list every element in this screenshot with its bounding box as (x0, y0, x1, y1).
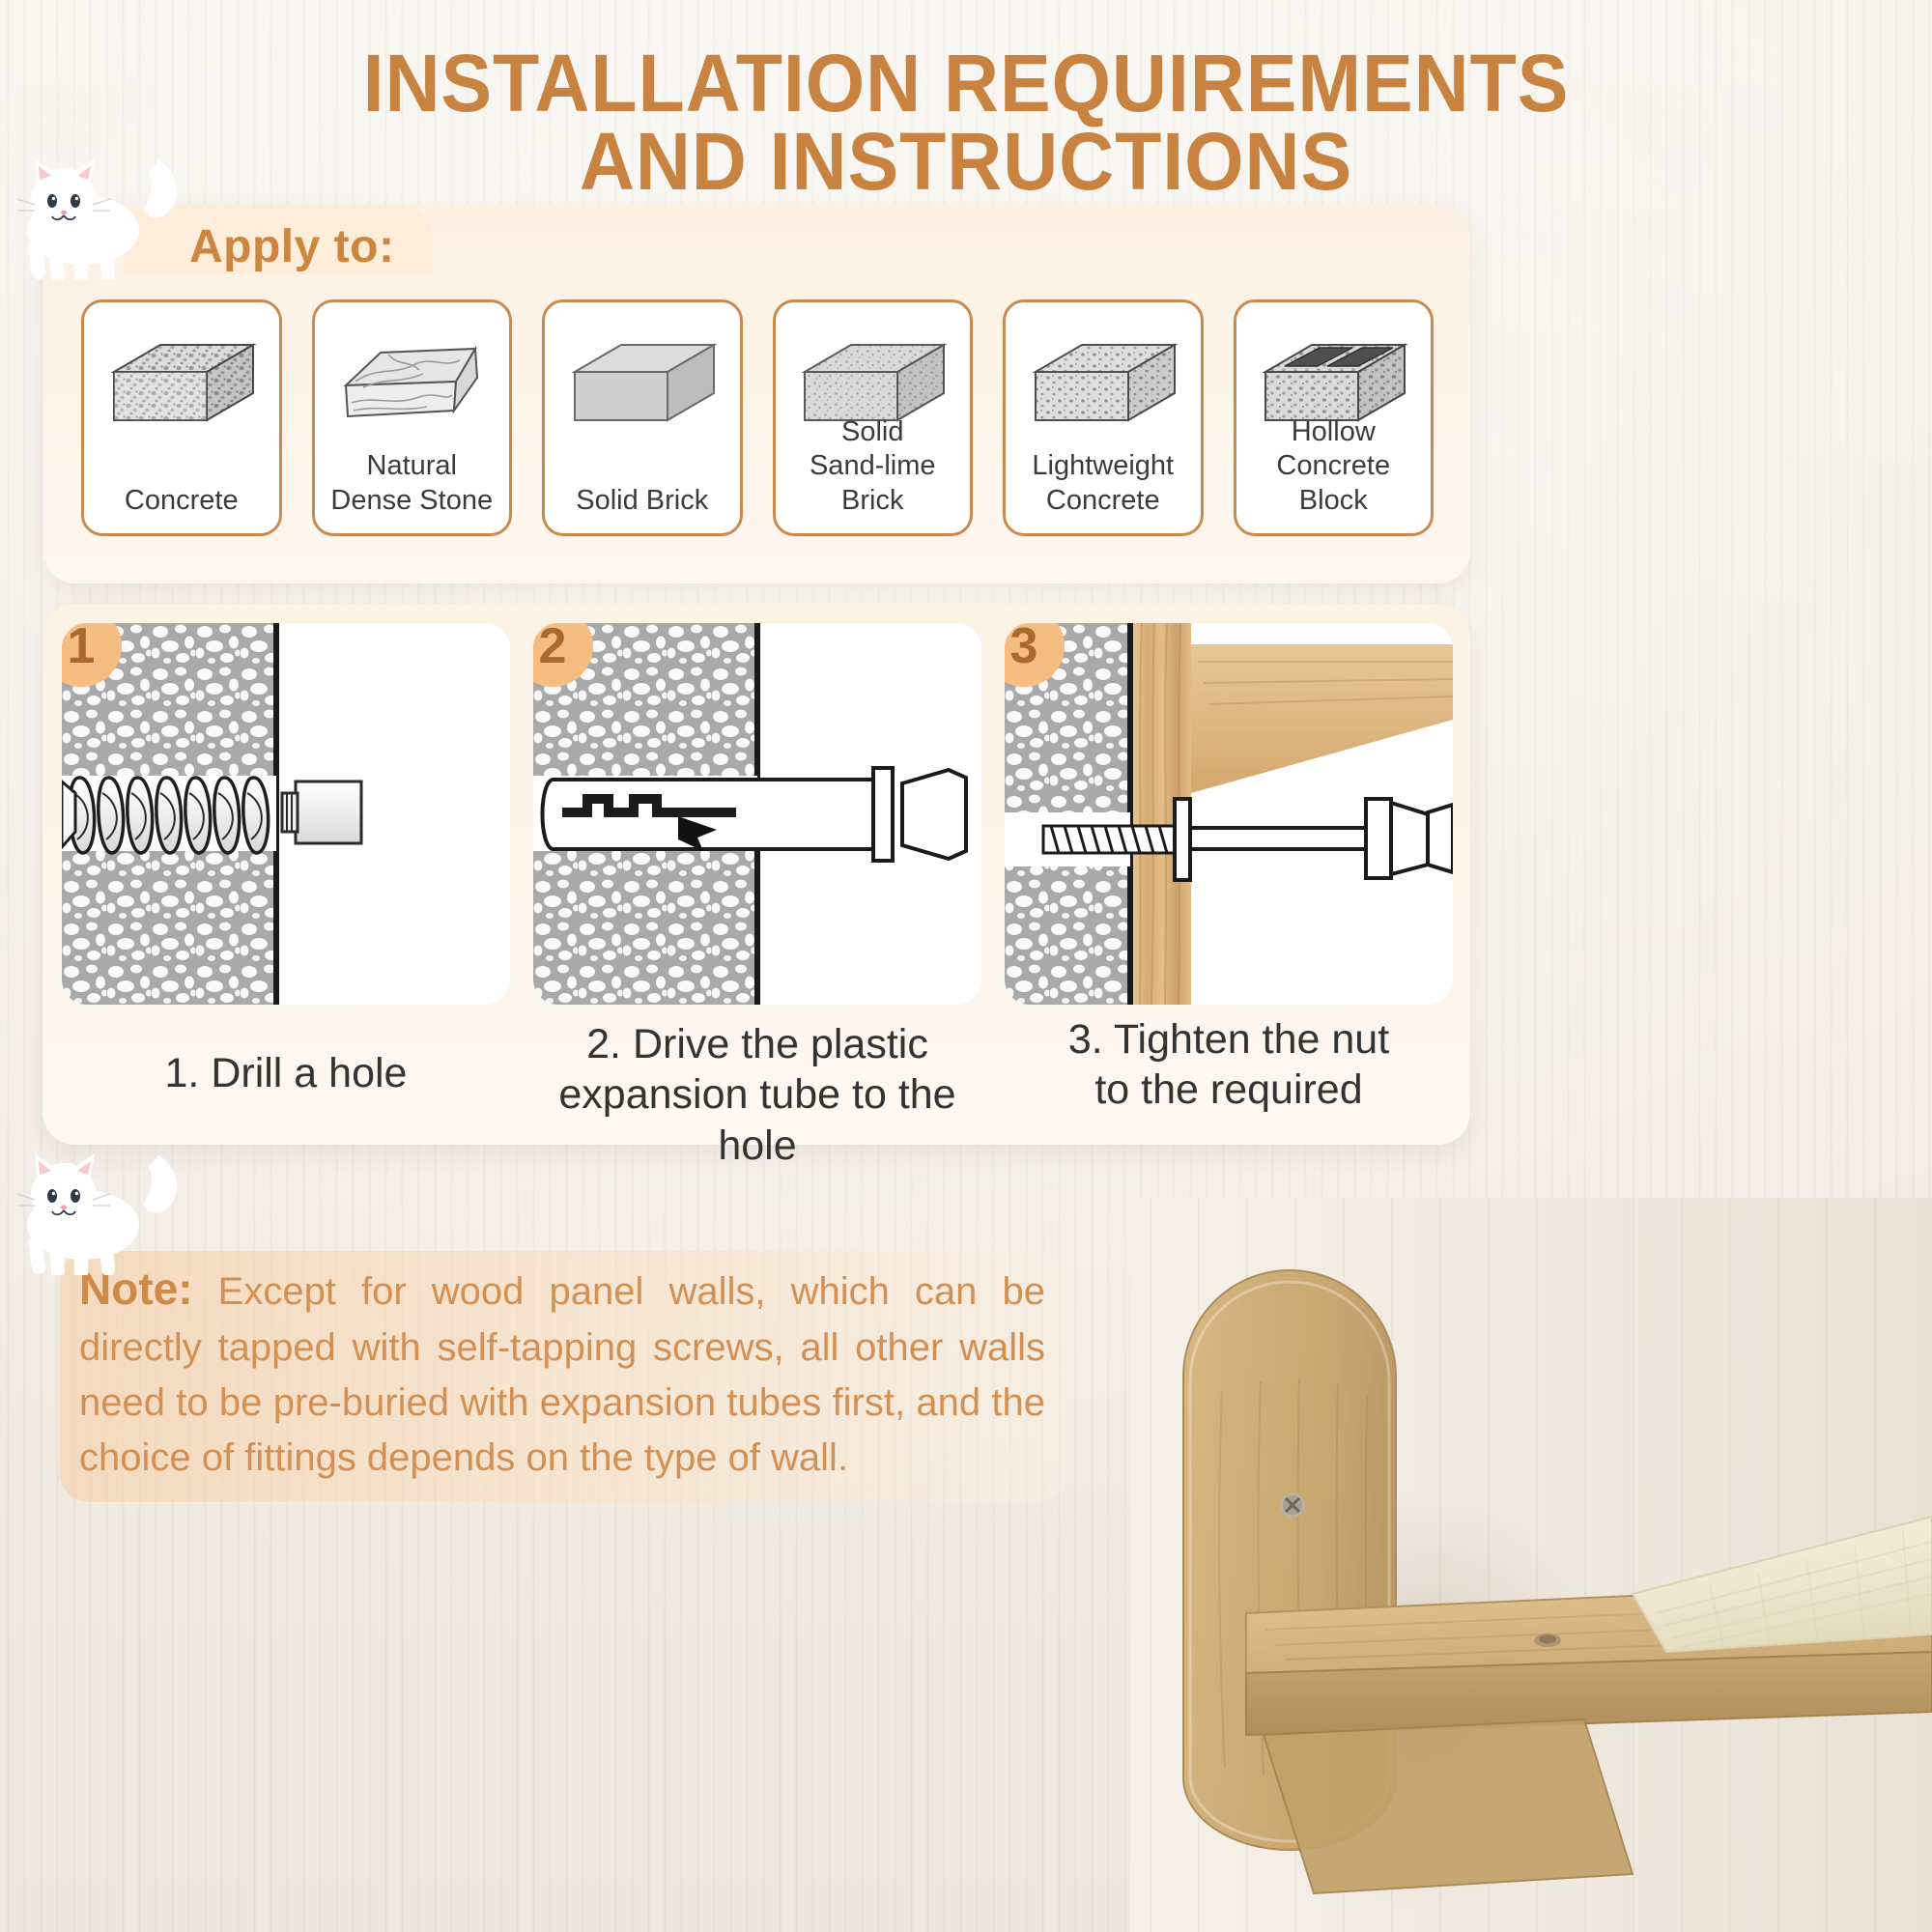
material-card-lightweight-concrete[interactable]: LightweightConcrete (1003, 299, 1204, 536)
step-panel-3[interactable]: 3 (1005, 623, 1453, 1005)
material-card-solid-brick[interactable]: Solid Brick (542, 299, 743, 536)
concrete-block-icon (100, 327, 263, 432)
step-panel-list: 1 2 (62, 623, 1453, 1005)
page-title: INSTALLATION REQUIREMENTS AND INSTRUCTIO… (58, 44, 1874, 202)
material-label: HollowConcrete Block (1236, 415, 1432, 518)
solid-brick-icon (561, 327, 724, 432)
material-label: LightweightConcrete (1006, 449, 1201, 518)
material-label: Solid Brick (545, 484, 740, 518)
note-text: Note: Except for wood panel walls, which… (79, 1258, 1045, 1486)
material-card-natural-dense-stone[interactable]: NaturalDense Stone (312, 299, 513, 536)
drill-bit-in-wall-illustration (62, 623, 510, 1005)
page-title-line2: AND INSTRUCTIONS (58, 123, 1874, 201)
natural-stone-icon (330, 327, 493, 432)
expansion-tube-illustration (533, 623, 981, 1005)
material-card-sand-lime-brick[interactable]: SolidSand-lime Brick (773, 299, 974, 536)
material-label: Concrete (84, 484, 279, 518)
lightweight-concrete-icon (1022, 327, 1184, 432)
note-body: Except for wood panel walls, which can b… (79, 1270, 1045, 1479)
material-label: SolidSand-lime Brick (776, 415, 971, 518)
step-caption-1: 1. Drill a hole (62, 1048, 510, 1098)
apply-to-label: Apply to: (189, 220, 394, 273)
step-caption-2: 2. Drive the plasticexpansion tube to th… (533, 1019, 981, 1171)
material-label: NaturalDense Stone (315, 449, 510, 518)
step-caption-3: 3. Tighten the nutto the required (1005, 1014, 1453, 1116)
page-title-line1: INSTALLATION REQUIREMENTS (363, 38, 1570, 128)
cat-mascot-top (14, 155, 187, 280)
tighten-nut-illustration (1005, 623, 1453, 1005)
step-panel-1[interactable]: 1 (62, 623, 510, 1005)
material-card-hollow-concrete-block[interactable]: HollowConcrete Block (1234, 299, 1435, 536)
step-panel-2[interactable]: 2 (533, 623, 981, 1005)
cat-mascot-bottom (14, 1150, 187, 1275)
product-photo (1130, 1198, 1932, 1932)
material-card-concrete[interactable]: Concrete (81, 299, 282, 536)
material-card-list: Concrete NaturalDense Stone Solid Brick (81, 299, 1434, 536)
